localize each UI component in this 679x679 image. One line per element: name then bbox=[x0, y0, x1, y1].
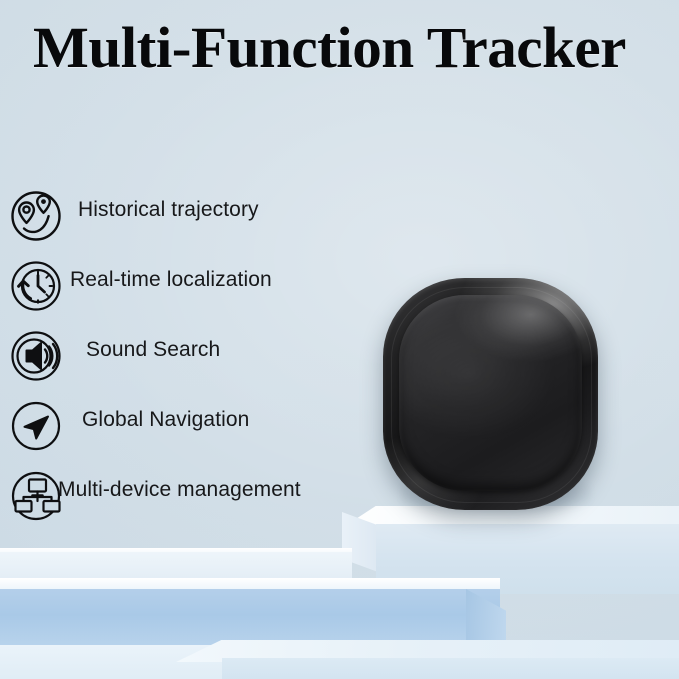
feature-item-multi-device-management: Multi-device management bbox=[0, 466, 400, 536]
feature-label: Real-time localization bbox=[70, 268, 272, 292]
navigation-arrow-icon bbox=[10, 400, 62, 452]
feature-item-historical-trajectory: Historical trajectory bbox=[0, 186, 400, 256]
podium-bottom-step-front bbox=[222, 658, 679, 679]
network-devices-icon bbox=[10, 470, 62, 522]
podium-middle-step-front bbox=[0, 589, 500, 647]
feature-item-real-time-localization: Real-time localization bbox=[0, 256, 400, 326]
feature-label: Global Navigation bbox=[82, 408, 249, 432]
product-poster: Multi-Function Tracker Historical trajec… bbox=[0, 0, 679, 679]
podium-left-ledge bbox=[0, 552, 352, 578]
clock-refresh-icon bbox=[10, 260, 62, 312]
feature-item-sound-search: Sound Search bbox=[0, 326, 400, 396]
feature-label: Multi-device management bbox=[58, 478, 301, 502]
feature-label: Historical trajectory bbox=[78, 198, 259, 222]
feature-item-global-navigation: Global Navigation bbox=[0, 396, 400, 466]
device-face-highlight bbox=[399, 295, 582, 491]
page-title: Multi-Function Tracker bbox=[33, 15, 665, 81]
podium-bottom-step-left bbox=[0, 645, 226, 679]
feature-label: Sound Search bbox=[86, 338, 220, 362]
feature-list: Historical trajectory Real-time localiza… bbox=[0, 186, 400, 536]
map-pins-route-icon bbox=[10, 190, 62, 242]
tracker-device bbox=[383, 278, 607, 518]
speaker-sound-icon bbox=[10, 330, 62, 382]
